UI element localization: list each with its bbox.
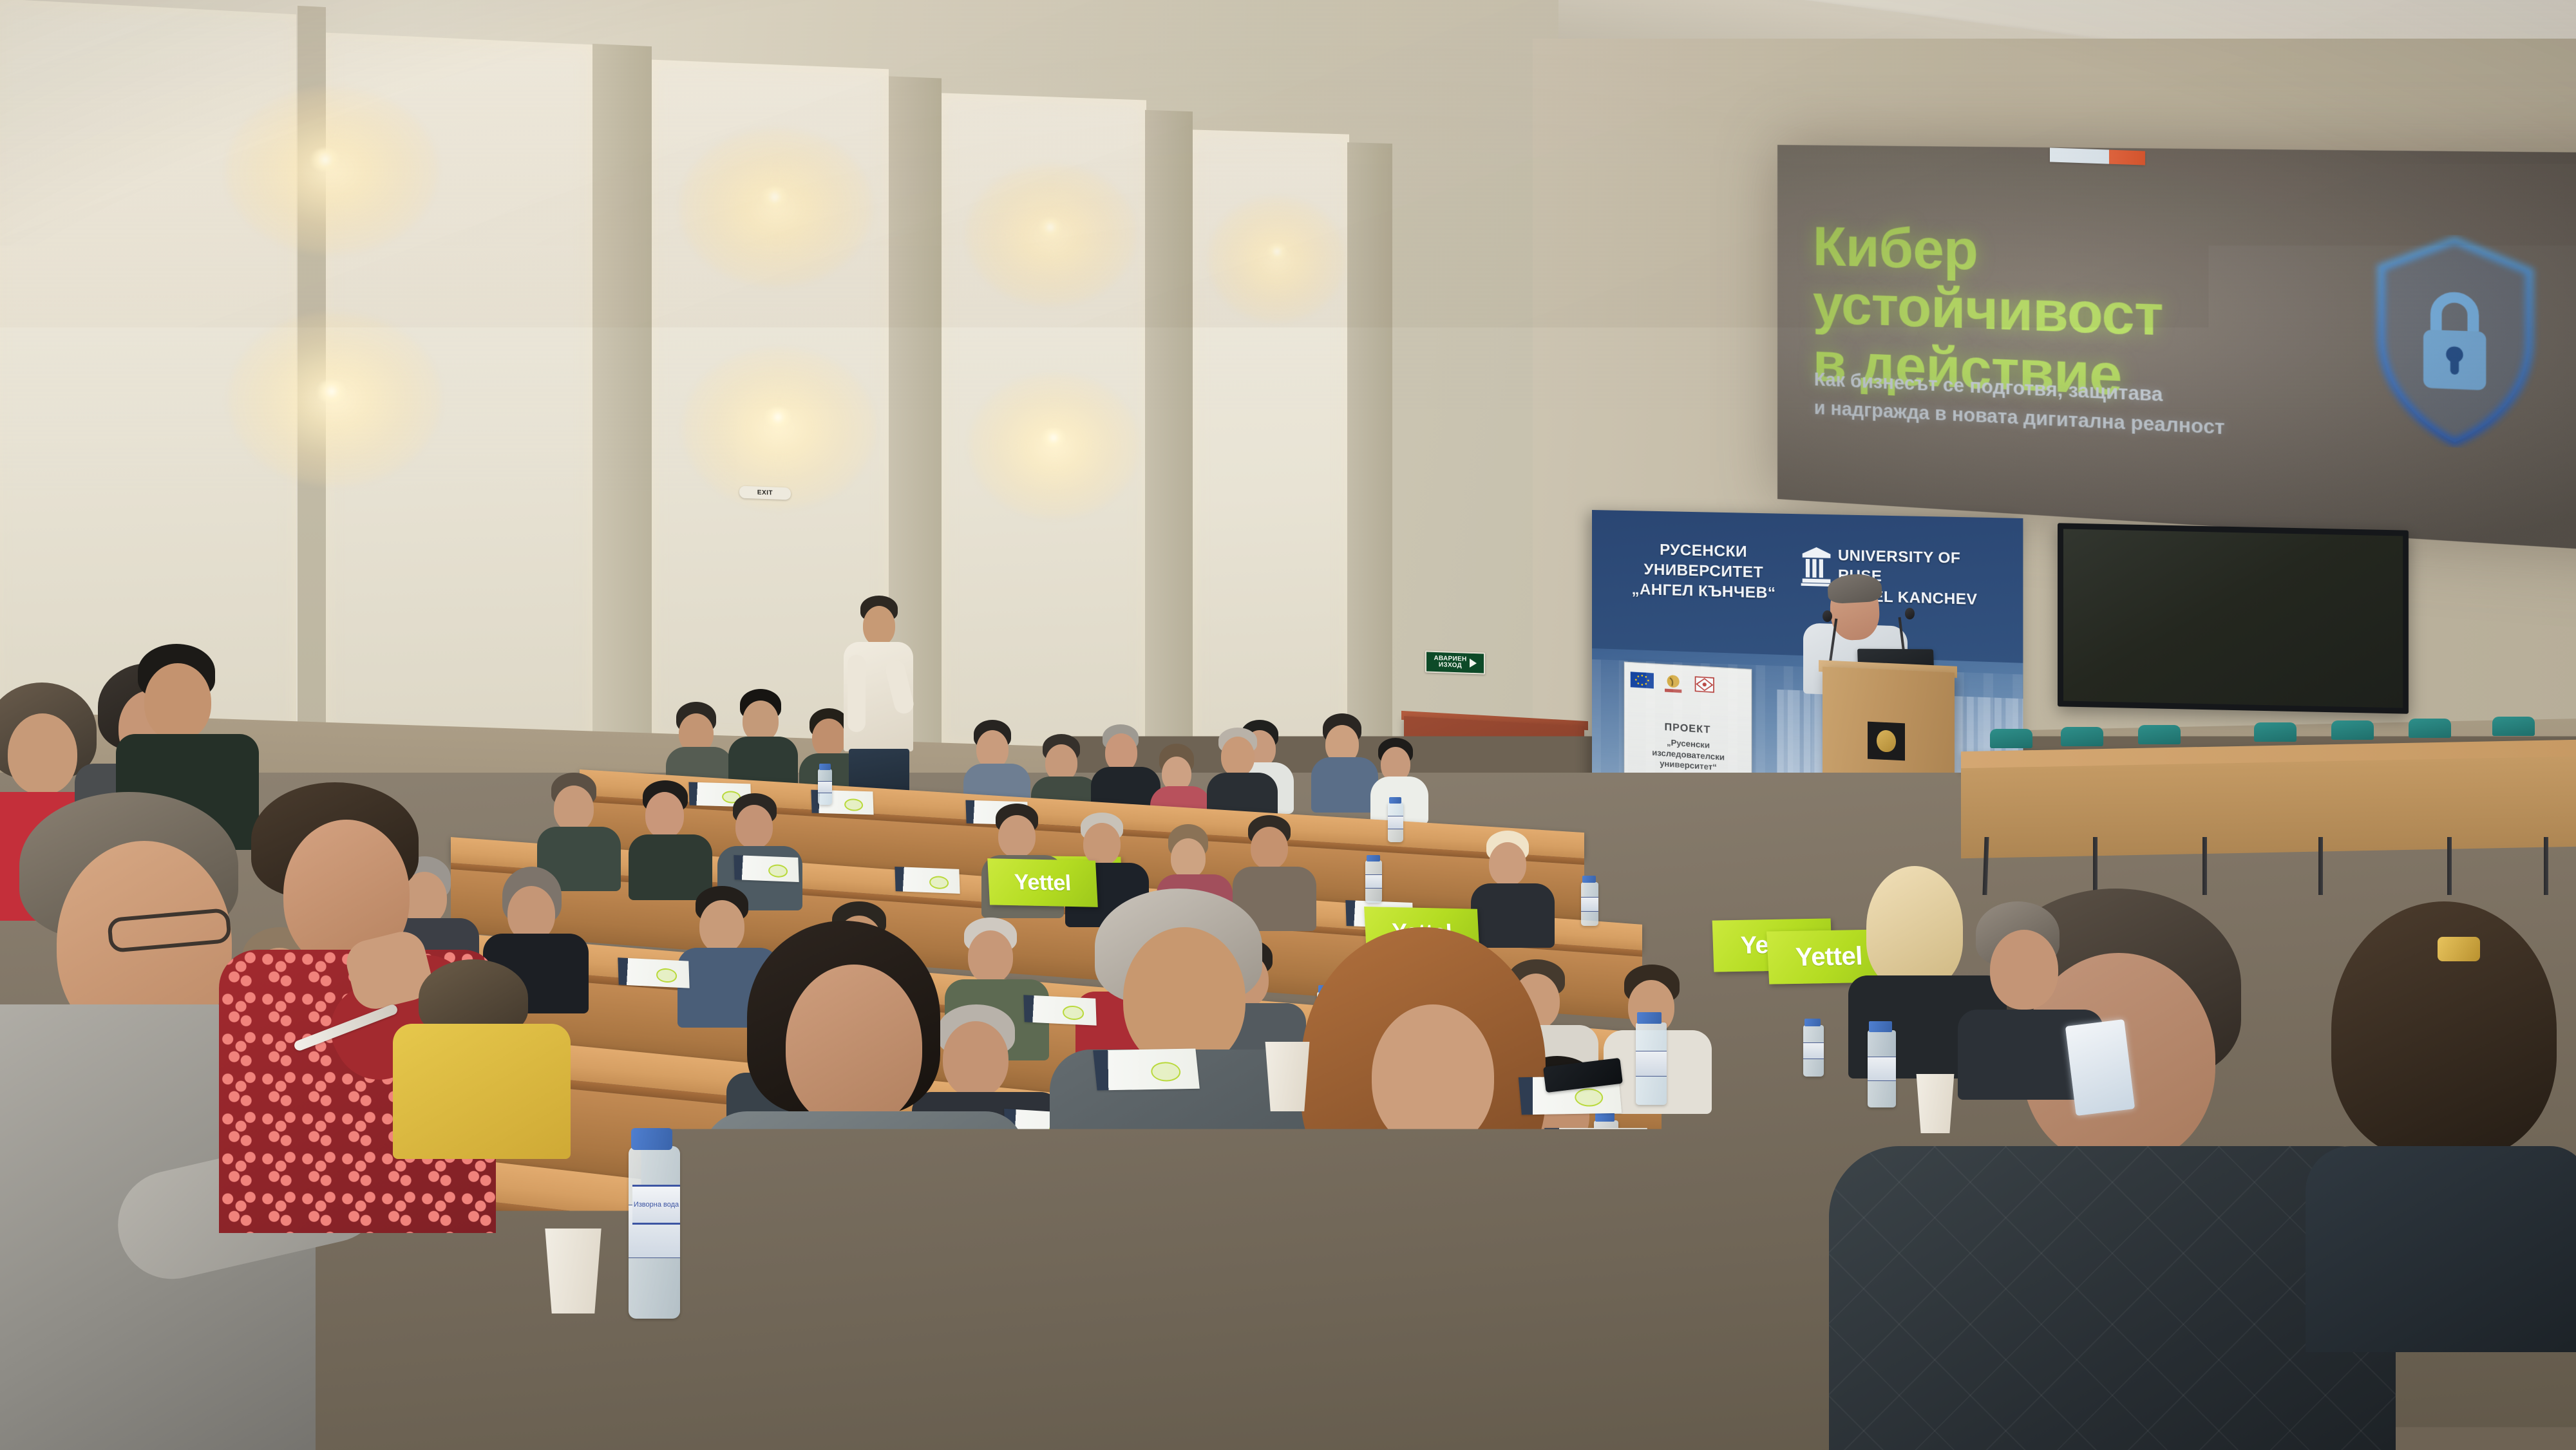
exit-arrow-icon [1470, 659, 1477, 668]
podium-emblem-icon [1868, 722, 1905, 761]
wall-divider [298, 6, 326, 744]
leaflet [895, 867, 960, 894]
slide-title: Кибер устойчивост в действие [1813, 218, 2288, 413]
smartphone-screen[interactable] [2065, 1019, 2135, 1116]
audience-person [631, 780, 711, 899]
audience-person [731, 689, 795, 792]
slide-title-line2: в действие [1813, 334, 2288, 413]
wall-panel [1191, 129, 1349, 752]
water-bottle [1581, 882, 1598, 926]
microphone-head-icon [1823, 610, 1832, 622]
bottle-cap [1582, 876, 1596, 883]
poster-subtitle: „Русенски изследователски университет“ [1630, 735, 1747, 776]
exit-sign: EXIT [739, 486, 791, 500]
yettel-bag-label: Yettel [1795, 942, 1863, 972]
slide-subtitle-line1: Как бизнесът се подготвя, защитава [1814, 365, 2246, 413]
table-leg [2093, 837, 2098, 895]
leaflet [1544, 1128, 1650, 1167]
poster-subtitle-line2: изследователски [1630, 746, 1747, 764]
emergency-exit-line2: ИЗХОД [1434, 662, 1466, 670]
projected-slide: Кибер устойчивост в действие Как бизнесъ… [1777, 145, 2576, 554]
bottle-label: Изворна вода [632, 1185, 680, 1225]
chair[interactable] [2331, 720, 2374, 740]
chair[interactable] [2061, 727, 2103, 746]
water-bottle [1803, 1025, 1824, 1077]
wall-panel [0, 0, 296, 742]
tv-screen [2063, 529, 2403, 708]
ruse-university-logo-icon [1662, 673, 1685, 694]
green-box [1565, 1174, 1674, 1259]
chair[interactable] [2254, 722, 2297, 742]
presenter-side-table-face [1961, 757, 2576, 858]
bottle-cap [1595, 1113, 1615, 1122]
foreground-attendee-curly [1275, 927, 1584, 1449]
exit-sign-label: EXIT [757, 489, 773, 497]
ministry-logo-icon [1692, 675, 1716, 697]
table-leg [2202, 837, 2207, 895]
audience-person [2312, 901, 2576, 1352]
microphone-head-icon [1905, 608, 1915, 619]
shield-lock-icon [2368, 233, 2543, 452]
water-bottle [1868, 1030, 1896, 1107]
banner-name-bg-line1: РУСЕНСКИ УНИВЕРСИТЕТ [1619, 539, 1789, 584]
leaflet [618, 957, 689, 988]
bottle-cap [1869, 1021, 1892, 1032]
water-bottle [629, 1146, 680, 1319]
poster-logo-row [1631, 672, 1716, 696]
wall-divider [592, 44, 652, 758]
audience-person [399, 959, 567, 1153]
poster-heading: ПРОЕКТ [1625, 719, 1751, 739]
bottle-cap [1367, 855, 1380, 862]
water-bottle [1636, 1022, 1667, 1105]
slide-title-line1: Кибер устойчивост [1813, 218, 2288, 351]
wall-divider [1145, 110, 1193, 762]
chair[interactable] [2492, 717, 2535, 736]
wall-light-core [760, 187, 790, 207]
wall-mounted-tv [2058, 523, 2409, 713]
standing-attendee [837, 596, 921, 808]
wall-light-core [309, 148, 341, 171]
bottle-cap [1804, 1019, 1821, 1026]
slide-subtitle: Как бизнесът се подготвя, защитава и над… [1814, 365, 2246, 444]
banner-name-bulgarian: РУСЕНСКИ УНИВЕРСИТЕТ „АНГЕЛ КЪНЧЕВ“ [1619, 539, 1789, 604]
chair[interactable] [2138, 725, 2181, 744]
leaflet [734, 855, 799, 882]
table-leg [2318, 837, 2323, 895]
table-leg [2447, 837, 2452, 895]
poster-subtitle-line1: „Русенски [1630, 735, 1747, 754]
wall-panel [325, 33, 592, 747]
emergency-exit-sign: АВАРИЕН ИЗХОД [1425, 650, 1485, 674]
wall-light-core [763, 407, 793, 428]
audience-person [1314, 713, 1377, 810]
bottle-cap [631, 1128, 672, 1150]
wall-panel [940, 93, 1146, 753]
foreground-attendee-vest [696, 921, 1037, 1450]
wall-light-core [316, 380, 348, 403]
eu-flag-logo-icon [1631, 672, 1654, 692]
university-building-logo-icon [1801, 545, 1832, 587]
wall-light-core [1265, 243, 1289, 260]
hair-clip [2438, 937, 2480, 961]
water-bottle [1365, 860, 1382, 903]
leaflet [1093, 1048, 1200, 1090]
bottle-cap [819, 764, 831, 770]
water-bottle [1388, 802, 1403, 842]
slide-subtitle-line2: и надгражда в новата дигитална реалност [1814, 394, 2246, 444]
wall-divider [1347, 142, 1392, 762]
projection-screen: Кибер устойчивост в действие Как бизнесъ… [1777, 145, 2576, 554]
conference-hall-photo: EXIT Кибер устойчивост в действие Как би… [0, 0, 2576, 1450]
water-bottle [818, 769, 832, 805]
wall-light-core [1040, 428, 1067, 447]
wall-light-core [1037, 218, 1064, 237]
chair[interactable] [2409, 719, 2451, 738]
chair[interactable] [1990, 729, 2032, 748]
bottle-cap [1389, 797, 1401, 804]
bottle-cap [1637, 1012, 1662, 1024]
table-leg [2544, 837, 2548, 895]
